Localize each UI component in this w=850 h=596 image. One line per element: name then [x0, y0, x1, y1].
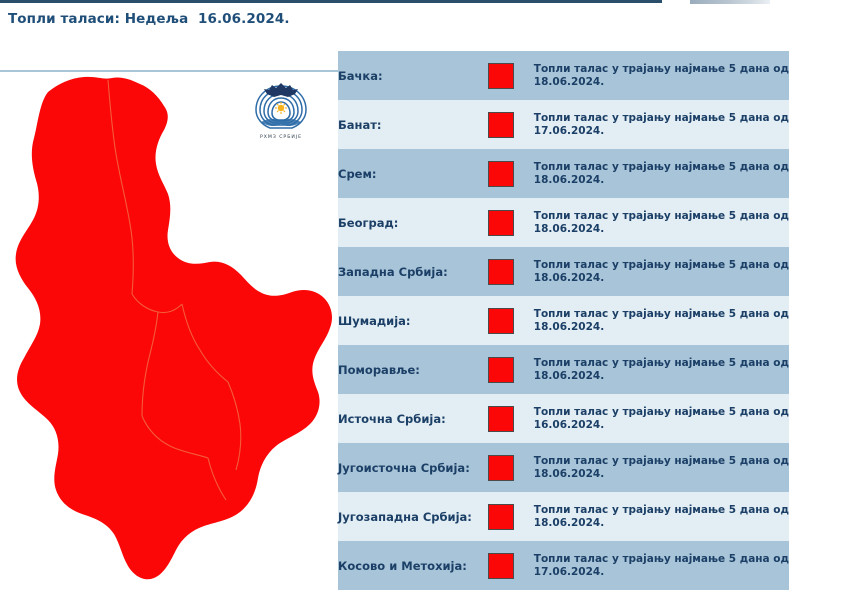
region-label: Срем: [338, 149, 488, 198]
alert-description: Топли талас у трајању најмање 5 дана од … [534, 51, 789, 100]
alert-swatch-cell [488, 443, 534, 492]
table-row[interactable]: Источна Србија: Топли талас у трајању на… [338, 394, 789, 443]
table-row[interactable]: Југозападна Србија: Топли талас у трајањ… [338, 492, 789, 541]
alert-swatch-cell [488, 247, 534, 296]
alert-description-line2: 18.06.2024. [534, 272, 789, 285]
alert-swatch-cell [488, 541, 534, 590]
alert-swatch-cell [488, 296, 534, 345]
table-row[interactable]: Југоисточна Србија: Топли талас у трајањ… [338, 443, 789, 492]
region-label: Банат: [338, 100, 488, 149]
alerts-table-body: Бачка: Топли талас у трајању најмање 5 д… [338, 51, 789, 590]
alert-description: Топли талас у трајању најмање 5 дана од … [534, 443, 789, 492]
table-row[interactable]: Западна Србија: Топли талас у трајању на… [338, 247, 789, 296]
table-row[interactable]: Шумадија: Топли талас у трајању најмање … [338, 296, 789, 345]
alert-description: Топли талас у трајању најмање 5 дана од … [534, 100, 789, 149]
red-square-icon [488, 357, 514, 383]
alert-description-line2: 17.06.2024. [534, 566, 789, 579]
alert-description-line2: 17.06.2024. [534, 125, 789, 138]
alert-description-line1: Топли талас у трајању најмање 5 дана од [534, 259, 789, 272]
divider-top [0, 70, 338, 72]
top-secondary-bar [690, 0, 770, 4]
alert-description-line2: 18.06.2024. [534, 517, 789, 530]
alert-description: Топли талас у трајању најмање 5 дана од … [534, 247, 789, 296]
red-square-icon [488, 259, 514, 285]
page-title: Топли таласи: Недеља 16.06.2024. [8, 11, 290, 27]
alert-swatch-cell [488, 149, 534, 198]
table-row[interactable]: Београд: Топли талас у трајању најмање 5… [338, 198, 789, 247]
alert-swatch-cell [488, 394, 534, 443]
red-square-icon [488, 406, 514, 432]
table-row[interactable]: Косово и Метохија: Топли талас у трајању… [338, 541, 789, 590]
alert-description-line1: Топли талас у трајању најмање 5 дана од [534, 308, 789, 321]
alert-description-line1: Топли талас у трајању најмање 5 дана од [534, 161, 789, 174]
region-label: Западна Србија: [338, 247, 488, 296]
alert-description-line1: Топли талас у трајању најмање 5 дана од [534, 553, 789, 566]
region-label: Југозападна Србија: [338, 492, 488, 541]
alert-description-line1: Топли талас у трајању најмање 5 дана од [534, 63, 789, 76]
svg-text:РХМЗ СРБИЈЕ: РХМЗ СРБИЈЕ [260, 134, 302, 140]
table-row[interactable]: Бачка: Топли талас у трајању најмање 5 д… [338, 51, 789, 100]
red-square-icon [488, 63, 514, 89]
alert-description-line2: 18.06.2024. [534, 223, 789, 236]
table-row[interactable]: Банат: Топли талас у трајању најмање 5 д… [338, 100, 789, 149]
red-square-icon [488, 112, 514, 138]
region-label: Шумадија: [338, 296, 488, 345]
alert-description-line2: 18.06.2024. [534, 468, 789, 481]
alert-description-line1: Топли талас у трајању најмање 5 дана од [534, 210, 789, 223]
alert-swatch-cell [488, 492, 534, 541]
heat-wave-alerts-table: Бачка: Топли талас у трајању најмање 5 д… [338, 51, 789, 590]
alert-description: Топли талас у трајању најмање 5 дана од … [534, 345, 789, 394]
alert-swatch-cell [488, 198, 534, 247]
alert-description: Топли талас у трајању најмање 5 дана од … [534, 492, 789, 541]
alert-description-line2: 18.06.2024. [534, 321, 789, 334]
alert-swatch-cell [488, 100, 534, 149]
serbia-map[interactable] [0, 74, 338, 584]
alert-description-line2: 18.06.2024. [534, 174, 789, 187]
alert-description-line1: Топли талас у трајању најмање 5 дана од [534, 357, 789, 370]
map-panel: РХМЗ СРБИЈЕ [0, 40, 338, 596]
rhmz-logo: РХМЗ СРБИЈЕ [252, 80, 310, 142]
alert-description: Топли талас у трајању најмање 5 дана од … [534, 149, 789, 198]
table-row[interactable]: Поморавље: Топли талас у трајању најмање… [338, 345, 789, 394]
alert-description-line1: Топли талас у трајању најмање 5 дана од [534, 112, 789, 125]
alert-swatch-cell [488, 51, 534, 100]
alert-description: Топли талас у трајању најмање 5 дана од … [534, 296, 789, 345]
region-label: Југоисточна Србија: [338, 443, 488, 492]
region-label: Бачка: [338, 51, 488, 100]
alert-description-line2: 18.06.2024. [534, 76, 789, 89]
red-square-icon [488, 210, 514, 236]
region-label: Београд: [338, 198, 488, 247]
alert-description: Топли талас у трајању најмање 5 дана од … [534, 394, 789, 443]
alert-description: Топли талас у трајању најмање 5 дана од … [534, 541, 789, 590]
red-square-icon [488, 504, 514, 530]
red-square-icon [488, 553, 514, 579]
alert-description-line1: Топли талас у трајању најмање 5 дана од [534, 504, 789, 517]
red-square-icon [488, 455, 514, 481]
alert-description-line2: 16.06.2024. [534, 419, 789, 432]
alert-description-line1: Топли талас у трајању најмање 5 дана од [534, 455, 789, 468]
region-label: Источна Србија: [338, 394, 488, 443]
red-square-icon [488, 161, 514, 187]
table-row[interactable]: Срем: Топли талас у трајању најмање 5 да… [338, 149, 789, 198]
red-square-icon [488, 308, 514, 334]
region-label: Косово и Метохија: [338, 541, 488, 590]
alert-swatch-cell [488, 345, 534, 394]
top-accent-bar [0, 0, 662, 3]
alert-description-line2: 18.06.2024. [534, 370, 789, 383]
region-label: Поморавље: [338, 345, 488, 394]
alert-description-line1: Топли талас у трајању најмање 5 дана од [534, 406, 789, 419]
alert-description: Топли талас у трајању најмање 5 дана од … [534, 198, 789, 247]
